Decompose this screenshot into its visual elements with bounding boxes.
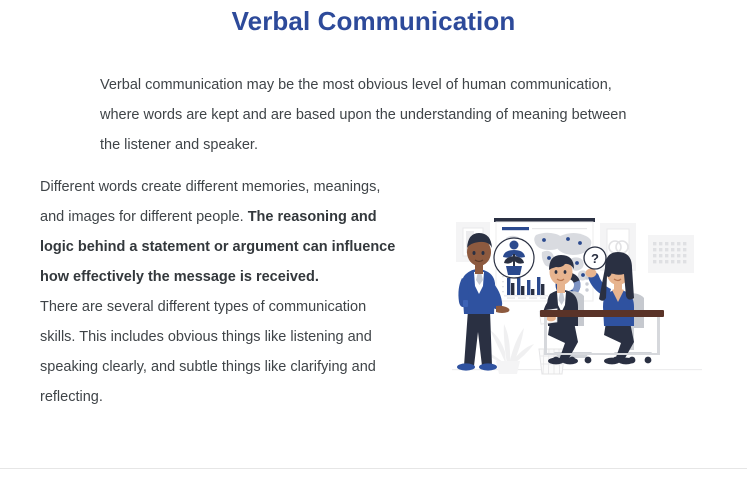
page-root: Verbal Communication Verbal communicatio…: [0, 0, 747, 487]
question-mark-glyph: ?: [591, 251, 599, 266]
question-bubble-icon: ?: [584, 247, 606, 269]
plant-bubble-icon: [494, 238, 534, 278]
wall-calendar-icon: [648, 235, 694, 273]
illustration-svg: ?: [452, 214, 702, 386]
business-presentation-illustration: ?: [452, 214, 702, 386]
left-column: Different words create different memorie…: [40, 172, 400, 412]
intro-paragraph: Verbal communication may be the most obv…: [100, 70, 636, 160]
paragraph-three: There are several different types of com…: [40, 292, 400, 412]
page-title: Verbal Communication: [0, 2, 747, 40]
paragraph-two: Different words create different memorie…: [40, 172, 400, 292]
footer-divider: [0, 468, 747, 469]
